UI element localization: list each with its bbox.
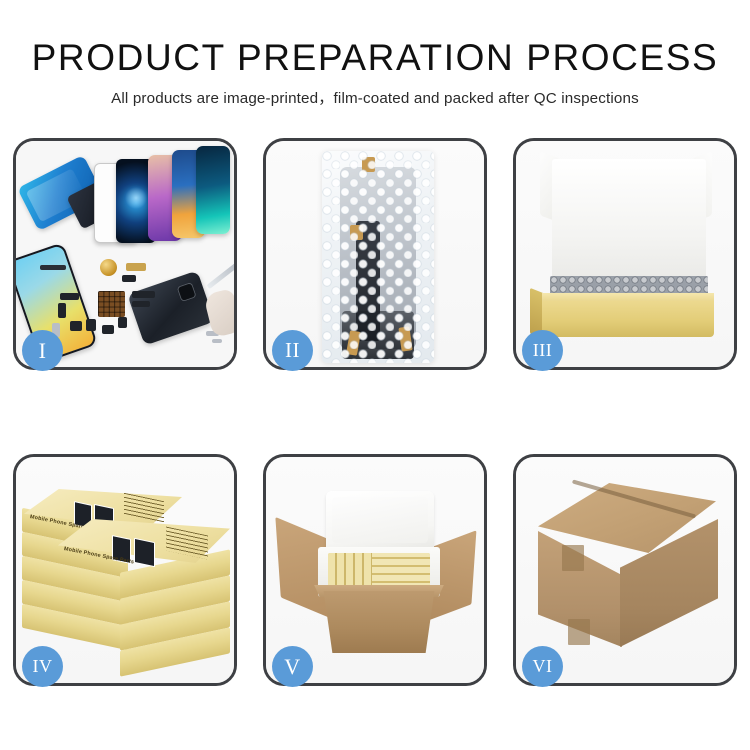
step-badge-1: I <box>22 330 63 371</box>
small-part-icon <box>122 275 136 282</box>
small-part-icon <box>70 321 82 331</box>
step-numeral: III <box>533 340 552 361</box>
process-step-5[interactable]: V <box>263 454 487 686</box>
small-part-icon <box>212 339 222 343</box>
foam-lid-icon <box>326 491 434 553</box>
small-part-icon <box>86 319 96 331</box>
step-badge-6: VI <box>522 646 563 687</box>
logic-board-icon <box>98 291 125 317</box>
process-step-4[interactable]: Mobile Phone Spare Parts Mobile Phone Sp… <box>13 454 237 686</box>
small-part-icon <box>58 303 66 318</box>
process-step-3[interactable]: III <box>513 138 737 370</box>
speaker-coil-icon <box>100 259 117 276</box>
process-step-grid: I II <box>13 138 737 686</box>
small-part-icon <box>132 291 155 298</box>
bubble-texture-icon <box>322 151 434 363</box>
step-badge-3: III <box>522 330 563 371</box>
step-numeral: I <box>39 338 47 364</box>
step-badge-5: V <box>272 646 313 687</box>
step-numeral: V <box>284 654 300 680</box>
inner-boxes-icon <box>328 553 430 589</box>
small-part-icon <box>126 263 146 271</box>
box-window-icon <box>134 538 155 567</box>
page-title: PRODUCT PREPARATION PROCESS <box>0 36 750 80</box>
carton-tape-icon <box>562 545 584 571</box>
phone-back-housing-icon <box>127 270 215 345</box>
small-part-icon <box>118 317 127 328</box>
page-header: PRODUCT PREPARATION PROCESS All products… <box>0 0 750 109</box>
small-part-icon <box>102 325 114 334</box>
box-front-icon <box>542 301 714 337</box>
small-part-icon <box>40 265 66 270</box>
bubble-bag-icon <box>322 151 434 363</box>
step-badge-2: II <box>272 330 313 371</box>
process-step-2[interactable]: II <box>263 138 487 370</box>
step-badge-4: IV <box>22 646 63 687</box>
carton-tape-icon <box>568 619 590 645</box>
step-numeral: II <box>285 338 300 363</box>
small-part-icon <box>60 293 79 300</box>
process-step-6[interactable]: VI <box>513 454 737 686</box>
page-subtitle: All products are image-printed，film-coat… <box>0 89 750 109</box>
carton-front-icon <box>316 591 442 653</box>
tweezers-icon <box>206 262 234 289</box>
small-part-icon <box>132 301 150 307</box>
step-numeral: IV <box>33 656 53 677</box>
process-step-1[interactable]: I <box>13 138 237 370</box>
teal-gradient-phone-icon <box>196 146 230 234</box>
foam-sheet-icon <box>552 159 706 285</box>
step-numeral: VI <box>533 656 553 677</box>
